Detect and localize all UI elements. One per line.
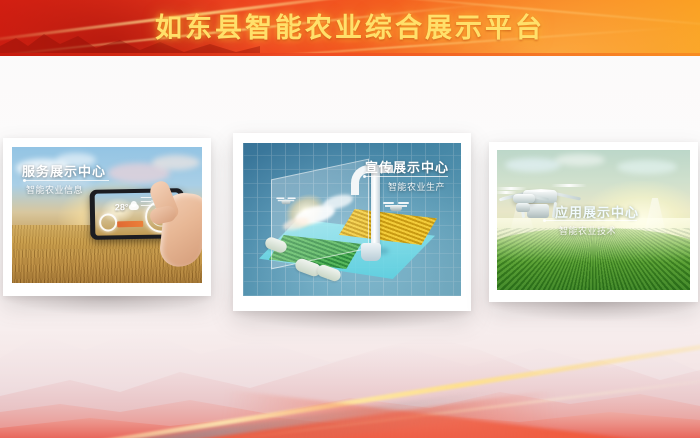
drone-icon — [383, 201, 409, 215]
cloud-icon — [152, 155, 200, 170]
cloud-icon — [323, 192, 353, 211]
drone-icon — [497, 186, 549, 216]
drone-body — [390, 205, 402, 211]
cloud-icon — [505, 158, 561, 172]
hud-ring-small-icon — [99, 213, 117, 231]
title-divider — [364, 176, 448, 177]
header-banner: 如东县智能农业综合展示平台 — [0, 0, 700, 56]
drone-body — [513, 194, 535, 203]
hand-holding-phone — [154, 177, 202, 269]
card-application-subtitle: 智能农业技术 — [559, 224, 616, 237]
title-divider — [545, 220, 637, 221]
card-shadow — [489, 302, 698, 322]
drone-rotor — [529, 189, 553, 192]
drone-body — [282, 200, 291, 205]
card-application-image: 应用展示中心 智能农业技术 — [497, 150, 690, 290]
card-shadow — [3, 296, 211, 316]
drone-rotor — [383, 202, 394, 204]
spray-tank — [516, 203, 530, 212]
title-divider — [23, 180, 109, 181]
irrigation-pole — [371, 165, 380, 249]
card-promotion-display-center[interactable]: 宣传展示中心 智能农业生产 — [233, 133, 471, 311]
phone-chip-row — [117, 221, 143, 227]
drone-rotor — [288, 198, 296, 200]
water-bucket — [361, 243, 381, 261]
card-application-display-center[interactable]: 应用展示中心 智能农业技术 — [489, 142, 698, 302]
cloud-icon — [617, 160, 677, 174]
drone-rotor — [398, 202, 409, 204]
card-promotion-image: 宣传展示中心 智能农业生产 — [243, 143, 461, 296]
weather-cloud-icon — [129, 204, 139, 210]
card-service-subtitle: 智能农业信息 — [26, 183, 83, 196]
cloud-icon — [555, 154, 605, 166]
page-title: 如东县智能农业综合展示平台 — [0, 6, 700, 45]
card-promotion-title: 宣传展示中心 — [365, 157, 449, 176]
card-promotion-subtitle: 智能农业生产 — [388, 180, 445, 193]
card-service-display-center[interactable]: 28° 服务展示中心 智能农业信息 — [3, 138, 211, 296]
card-service-image: 28° 服务展示中心 智能农业信息 — [12, 147, 202, 283]
banner-bottom-edge — [0, 53, 700, 56]
card-shadow — [233, 311, 471, 331]
card-application-title: 应用展示中心 — [555, 202, 639, 221]
app-stage: 如东县智能农业综合展示平台 28° — [0, 0, 700, 438]
phone-temperature-value: 28° — [115, 202, 129, 212]
drone-rotor — [551, 184, 587, 187]
card-service-title: 服务展示中心 — [22, 161, 106, 180]
drone-icon — [276, 197, 296, 208]
